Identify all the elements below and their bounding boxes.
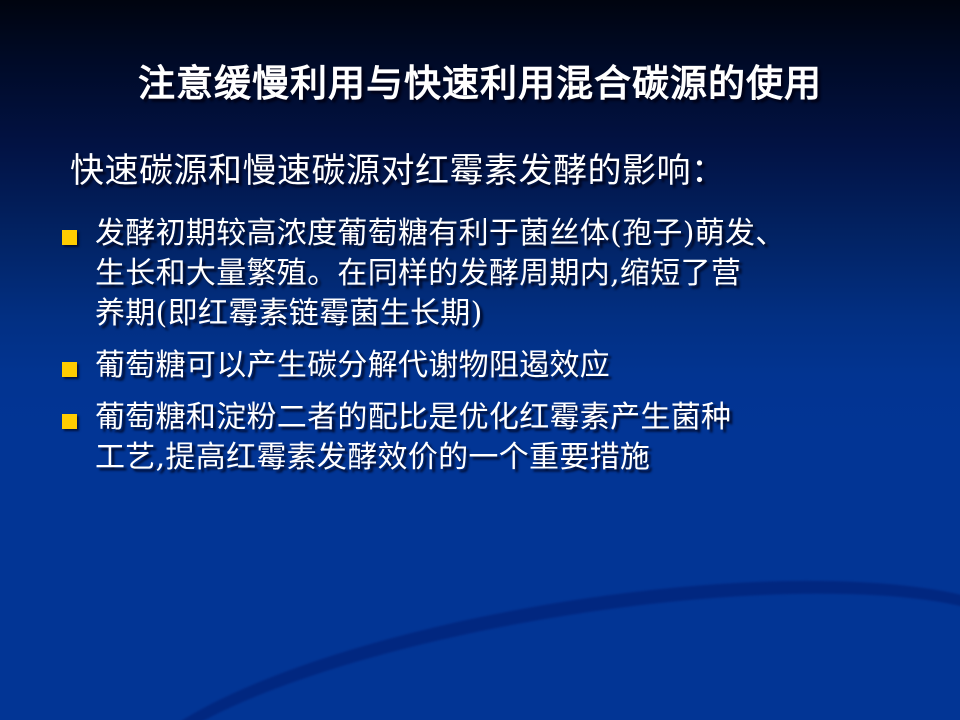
list-item-text: 葡萄糖和淀粉二者的配比是优化红霉素产生菌种 工艺,提高红霉素发酵效价的一个重要措… bbox=[95, 398, 960, 478]
square-bullet-icon bbox=[62, 414, 77, 429]
square-bullet-icon bbox=[62, 230, 77, 245]
list-item: 发酵初期较高浓度葡萄糖有利于菌丝体(孢子)萌发、 生长和大量繁殖。在同样的发酵周… bbox=[0, 214, 960, 334]
slide-subtitle: 快速碳源和慢速碳源对红霉素发酵的影响： bbox=[70, 152, 726, 191]
list-item: 葡萄糖可以产生碳分解代谢物阻遏效应 bbox=[0, 346, 960, 386]
slide-title: 注意缓慢利用与快速利用混合碳源的使用 bbox=[0, 63, 960, 104]
list-item: 葡萄糖和淀粉二者的配比是优化红霉素产生菌种 工艺,提高红霉素发酵效价的一个重要措… bbox=[0, 398, 960, 478]
list-item-text: 葡萄糖可以产生碳分解代谢物阻遏效应 bbox=[95, 346, 960, 386]
background-swoosh-decoration bbox=[548, 481, 960, 720]
background-swoosh-decoration bbox=[107, 529, 960, 720]
square-bullet-icon bbox=[62, 362, 77, 377]
list-item-text: 发酵初期较高浓度葡萄糖有利于菌丝体(孢子)萌发、 生长和大量繁殖。在同样的发酵周… bbox=[95, 214, 960, 334]
presentation-slide: 注意缓慢利用与快速利用混合碳源的使用 快速碳源和慢速碳源对红霉素发酵的影响： 发… bbox=[0, 0, 960, 720]
bullet-list: 发酵初期较高浓度葡萄糖有利于菌丝体(孢子)萌发、 生长和大量繁殖。在同样的发酵周… bbox=[0, 214, 960, 490]
